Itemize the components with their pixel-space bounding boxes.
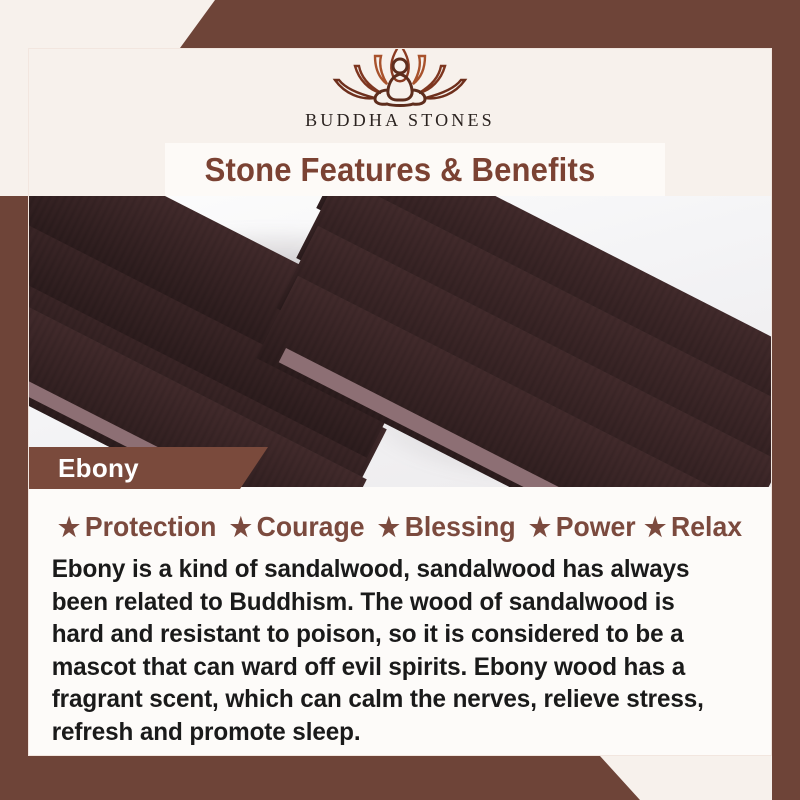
star-icon: ★ bbox=[644, 514, 666, 540]
poster-header: BUDDHA STONES bbox=[28, 48, 772, 145]
star-icon: ★ bbox=[378, 514, 400, 540]
frame-bottom-bar bbox=[0, 756, 800, 800]
brand-name: BUDDHA STONES bbox=[305, 110, 495, 131]
title-band: Stone Features & Benefits bbox=[28, 143, 772, 196]
benefit-label: Power bbox=[556, 511, 636, 543]
benefit-label: Relax bbox=[671, 511, 742, 543]
star-icon: ★ bbox=[230, 514, 252, 540]
benefit-item-blessing: ★ Blessing bbox=[378, 511, 516, 543]
content-panel: ★ Protection ★ Courage ★ Blessing ★ Powe… bbox=[28, 487, 772, 756]
stone-info-poster: BUDDHA STONES Stone Features & Benefits … bbox=[0, 0, 800, 800]
star-icon: ★ bbox=[58, 514, 80, 540]
benefit-label: Courage bbox=[257, 511, 365, 543]
stone-description: Ebony is a kind of sandalwood, sandalwoo… bbox=[42, 553, 737, 748]
benefits-list: ★ Protection ★ Courage ★ Blessing ★ Powe… bbox=[60, 511, 740, 543]
ebony-wood-photo bbox=[28, 196, 772, 487]
benefit-item-courage: ★ Courage bbox=[230, 511, 365, 543]
stone-name-label: Ebony bbox=[58, 453, 139, 484]
brand-logo: BUDDHA STONES bbox=[305, 36, 495, 131]
page-title: Stone Features & Benefits bbox=[50, 143, 749, 196]
frame-left-bar bbox=[0, 196, 28, 800]
star-icon: ★ bbox=[529, 514, 551, 540]
frame-top-bar bbox=[0, 0, 800, 48]
benefit-label: Blessing bbox=[405, 511, 516, 543]
benefit-item-relax: ★ Relax bbox=[644, 511, 742, 543]
benefit-label: Protection bbox=[85, 511, 217, 543]
benefit-item-protection: ★ Protection bbox=[58, 511, 216, 543]
stone-name-banner: Ebony bbox=[0, 447, 268, 489]
frame-right-bar bbox=[772, 0, 800, 800]
benefit-item-power: ★ Power bbox=[529, 511, 636, 543]
